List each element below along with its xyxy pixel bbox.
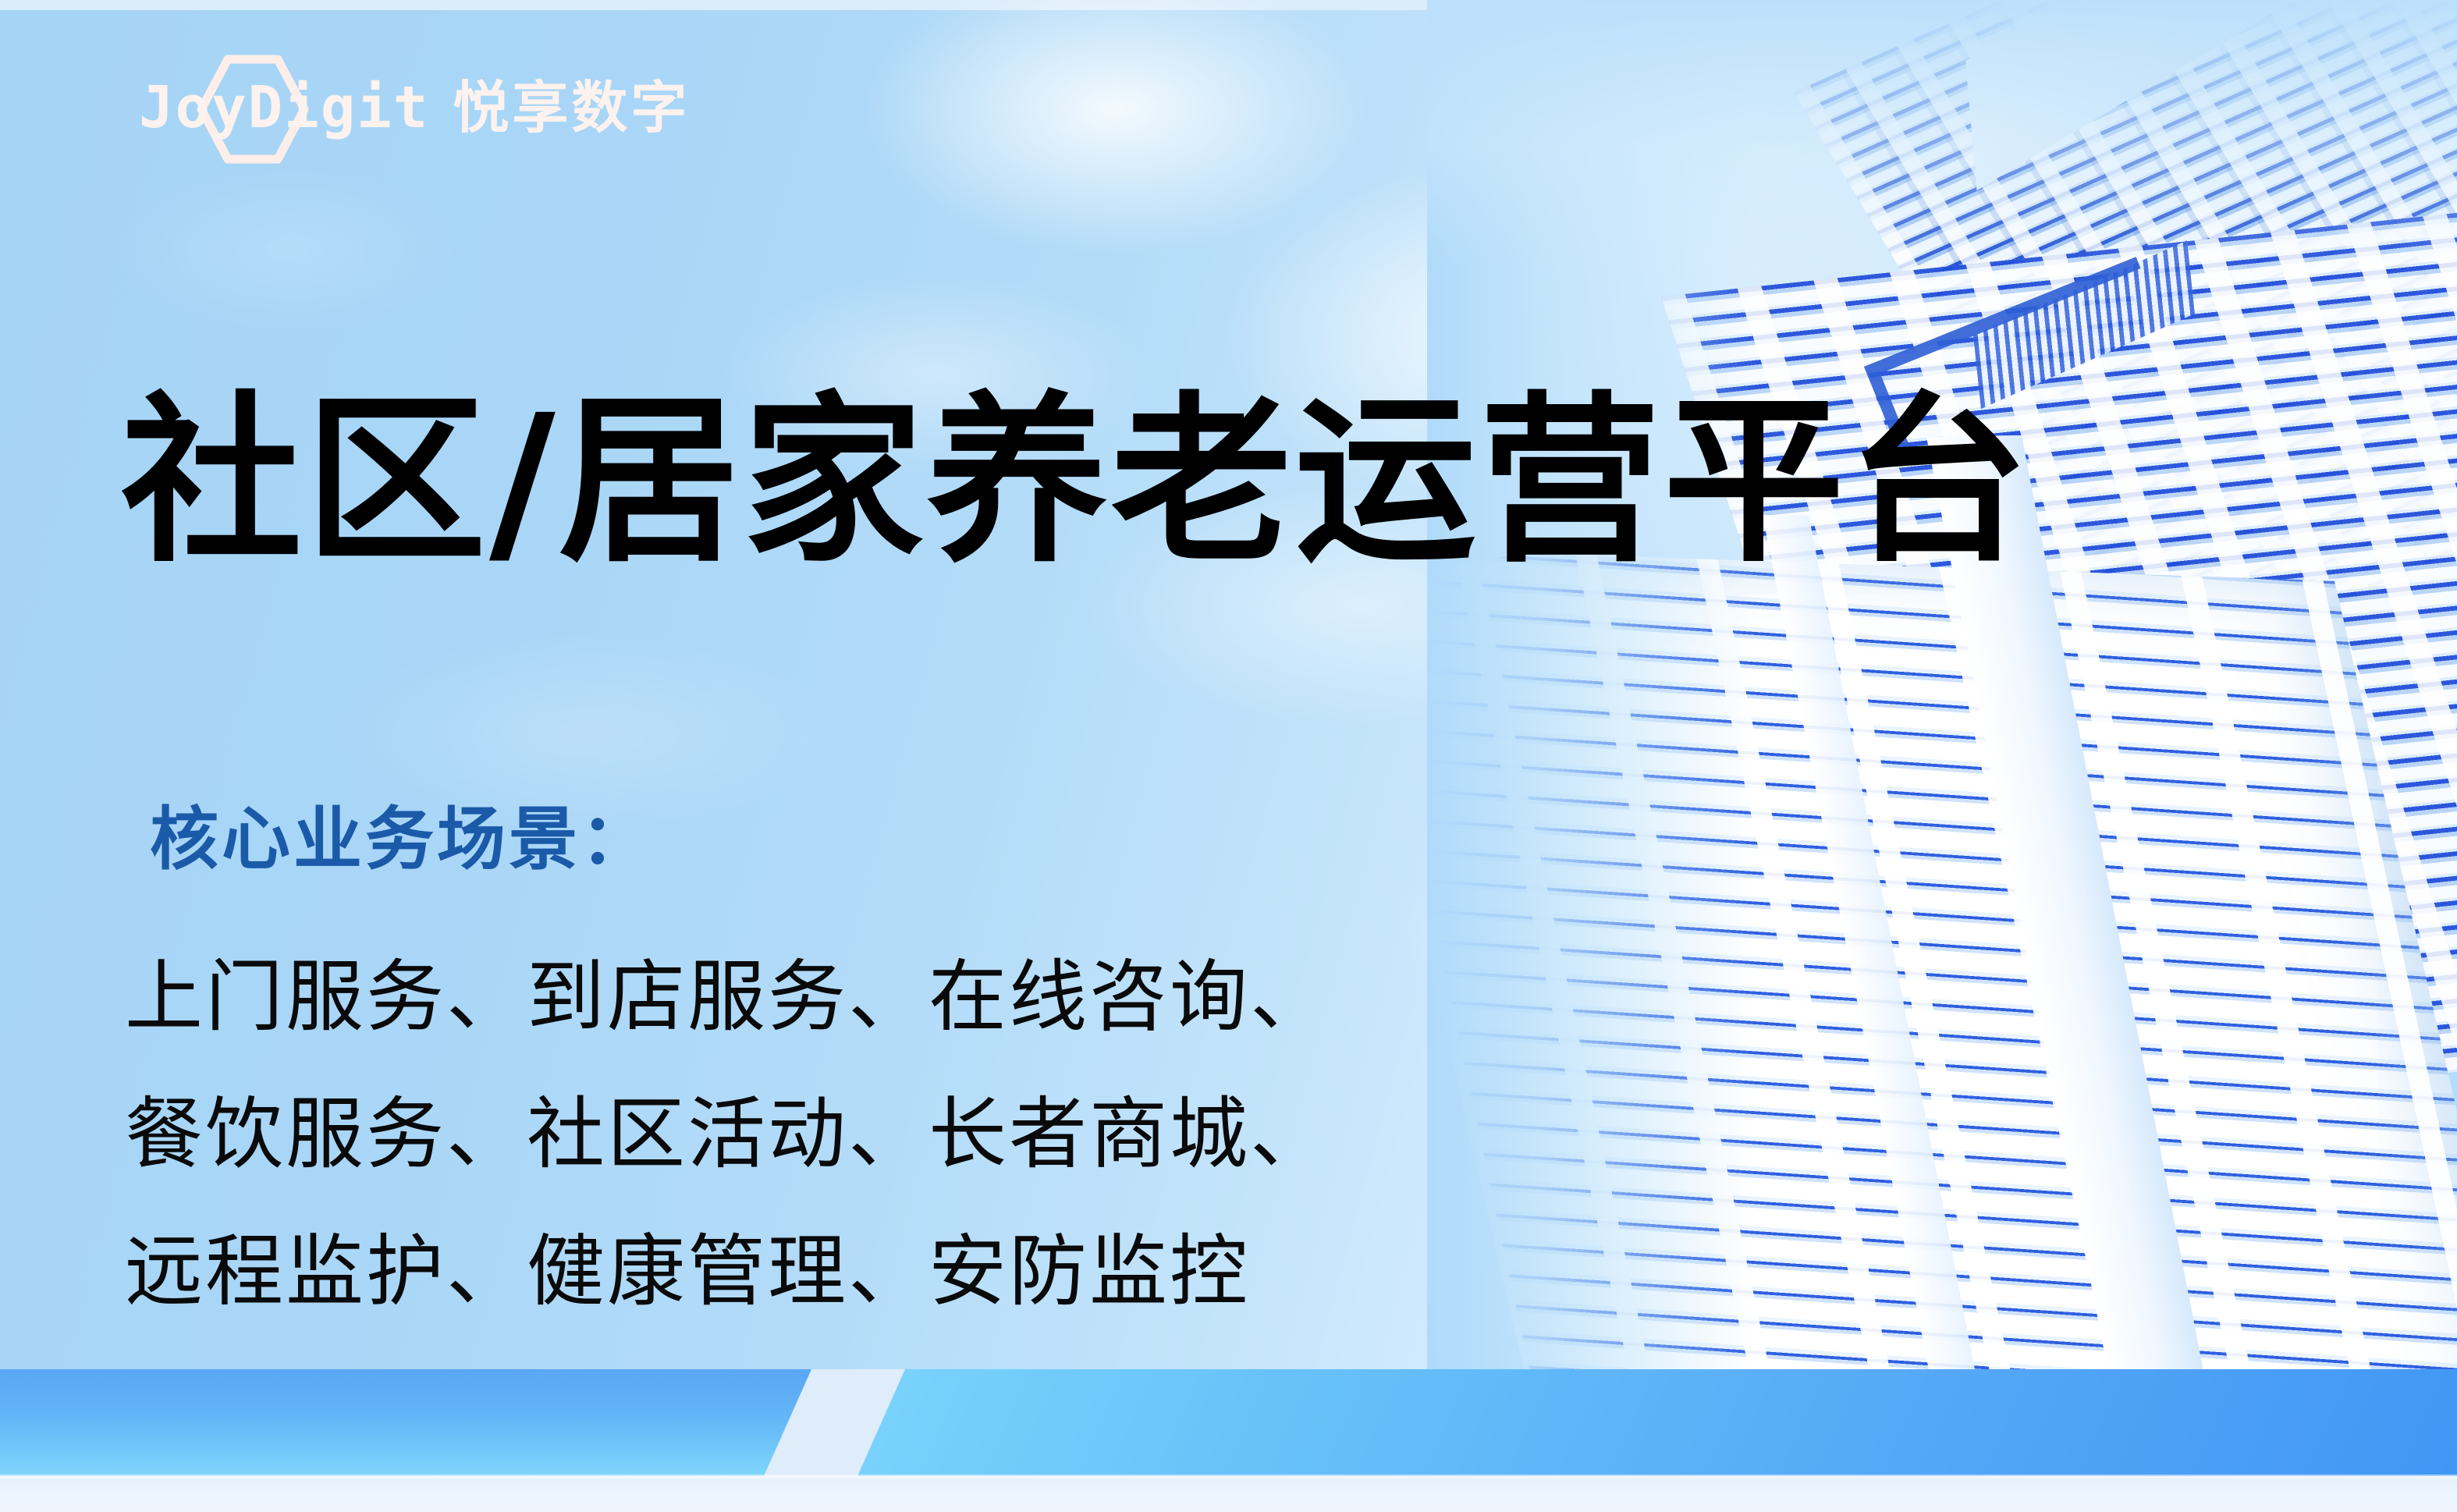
logo-wordmark: JoyDigit — [139, 79, 429, 137]
skyscraper-photo — [1427, 0, 2457, 1397]
scenario-line: 远程监护、健康管理、安防监控 — [125, 1203, 1330, 1340]
slide-canvas: JoyDigit 悦享数字 社区/居家养老运营平台 核心业务场景： 上门服务、到… — [0, 0, 2457, 1512]
photo-top-fade — [1427, 0, 2457, 265]
footer-accent-band — [0, 1369, 2457, 1476]
brand-logo[interactable]: JoyDigit 悦享数字 — [139, 61, 690, 154]
scenario-list: 上门服务、到店服务、在线咨询、 餐饮服务、社区活动、长者商城、 远程监护、健康管… — [125, 928, 1330, 1340]
page-title: 社区/居家养老运营平台 — [121, 378, 2032, 584]
scenario-line: 上门服务、到店服务、在线咨询、 — [125, 928, 1330, 1066]
scenario-line: 餐饮服务、社区活动、长者商城、 — [125, 1066, 1330, 1203]
band-hairline — [0, 1475, 2457, 1478]
section-label: 核心业务场景： — [150, 784, 652, 883]
band-right-parallelogram — [833, 1369, 2457, 1476]
logo-chinese-name: 悦享数字 — [453, 80, 690, 136]
band-left-parallelogram — [0, 1369, 889, 1476]
